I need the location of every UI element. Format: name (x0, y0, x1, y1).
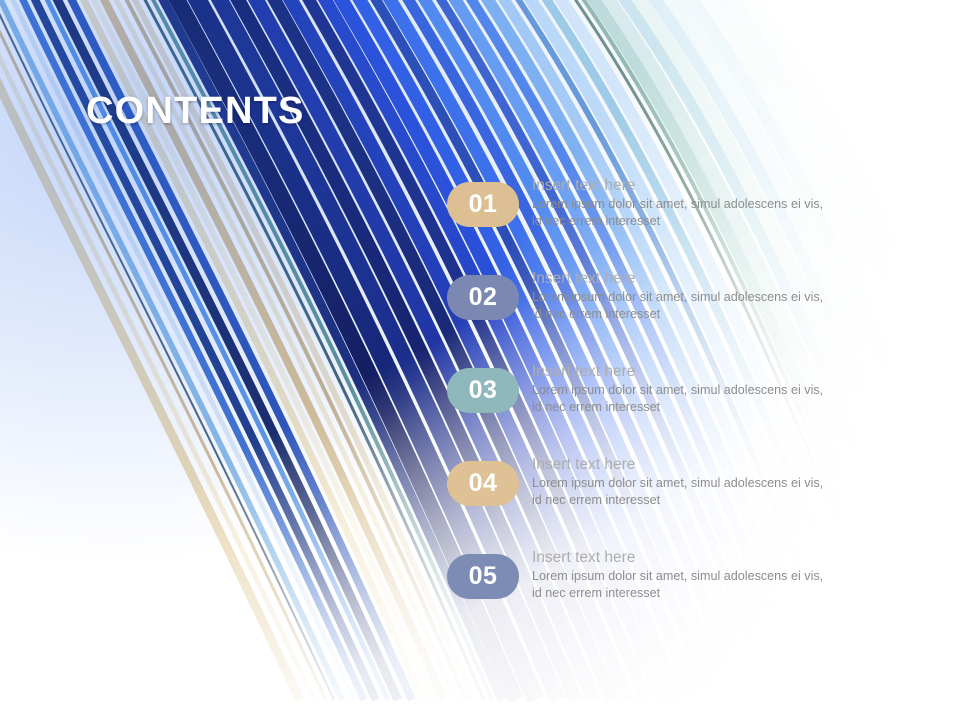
item-text-block: Insert text here Lorem ipsum dolor sit a… (532, 176, 832, 229)
item-body: Lorem ipsum dolor sit amet, simul adoles… (532, 568, 832, 601)
item-number: 04 (469, 469, 498, 498)
item-heading: Insert text here (532, 176, 832, 196)
item-text-block: Insert text here Lorem ipsum dolor sit a… (532, 455, 832, 508)
list-item[interactable]: 04 Insert text here Lorem ipsum dolor si… (447, 455, 847, 548)
item-number-badge[interactable]: 05 (447, 554, 519, 599)
item-number: 03 (469, 376, 498, 405)
item-number-badge[interactable]: 02 (447, 275, 519, 320)
item-number: 05 (469, 562, 498, 591)
list-item[interactable]: 02 Insert text here Lorem ipsum dolor si… (447, 269, 847, 362)
item-body: Lorem ipsum dolor sit amet, simul adoles… (532, 289, 832, 322)
item-number-badge[interactable]: 04 (447, 461, 519, 506)
item-number: 01 (469, 190, 498, 219)
item-number: 02 (469, 283, 498, 312)
item-heading: Insert text here (532, 455, 832, 475)
item-body: Lorem ipsum dolor sit amet, simul adoles… (532, 475, 832, 508)
item-text-block: Insert text here Lorem ipsum dolor sit a… (532, 362, 832, 415)
item-body: Lorem ipsum dolor sit amet, simul adoles… (532, 196, 832, 229)
item-text-block: Insert text here Lorem ipsum dolor sit a… (532, 548, 832, 601)
item-number-badge[interactable]: 03 (447, 368, 519, 413)
page-title: CONTENTS (86, 90, 305, 133)
item-heading: Insert text here (532, 548, 832, 568)
list-item[interactable]: 03 Insert text here Lorem ipsum dolor si… (447, 362, 847, 455)
presentation-slide: CONTENTS 01 Insert text here Lorem ipsum… (0, 0, 960, 720)
item-body: Lorem ipsum dolor sit amet, simul adoles… (532, 382, 832, 415)
item-text-block: Insert text here Lorem ipsum dolor sit a… (532, 269, 832, 322)
item-heading: Insert text here (532, 362, 832, 382)
list-item[interactable]: 05 Insert text here Lorem ipsum dolor si… (447, 548, 847, 641)
item-number-badge[interactable]: 01 (447, 182, 519, 227)
contents-list: 01 Insert text here Lorem ipsum dolor si… (447, 176, 847, 641)
item-heading: Insert text here (532, 269, 832, 289)
list-item[interactable]: 01 Insert text here Lorem ipsum dolor si… (447, 176, 847, 269)
